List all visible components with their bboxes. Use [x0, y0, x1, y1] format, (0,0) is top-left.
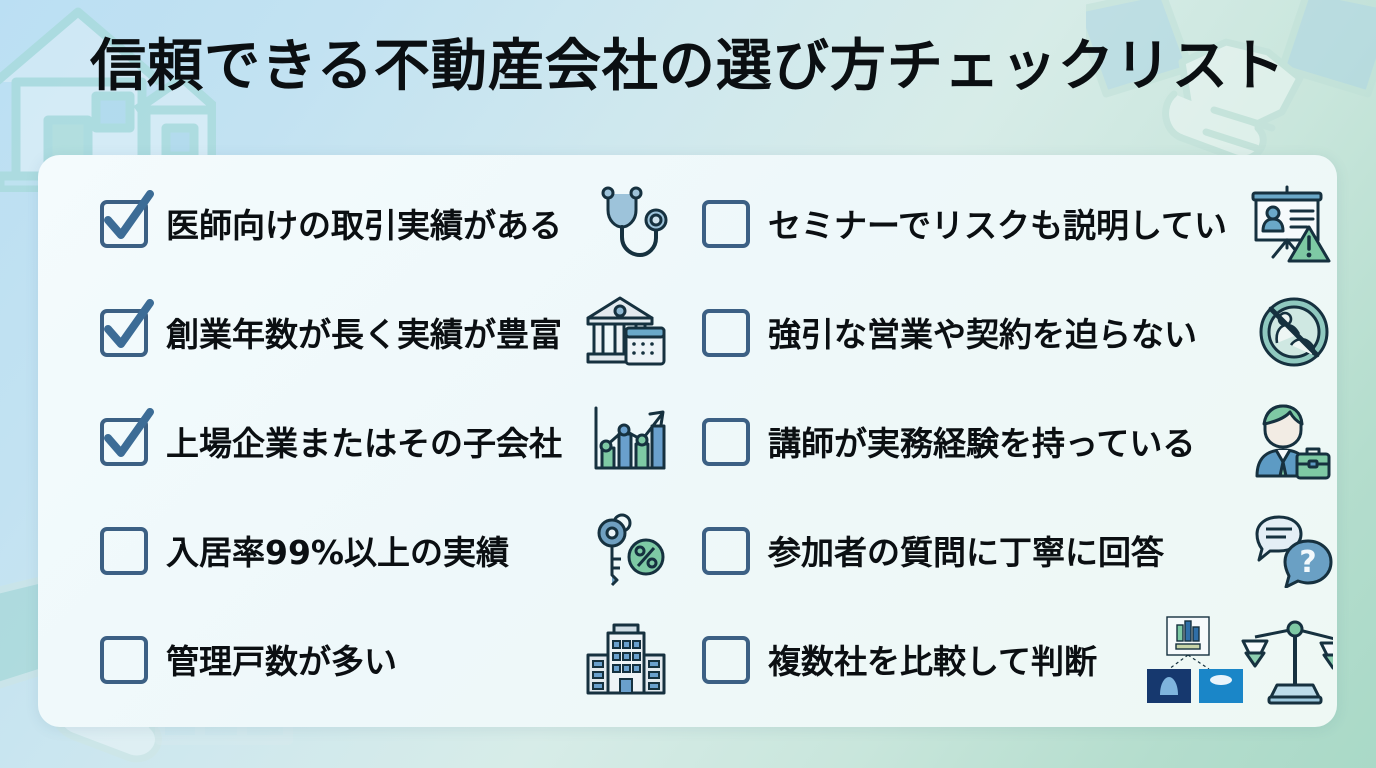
checkbox-unchecked[interactable]	[100, 636, 146, 682]
checklist-item-label: セミナーでリスクも説明してい	[768, 199, 1227, 247]
checkbox-checked[interactable]	[100, 418, 146, 464]
presentation-warning-icon	[1247, 183, 1333, 263]
checklist-item-label: 管理戸数が多い	[166, 635, 397, 683]
checkbox-unchecked[interactable]	[702, 309, 748, 355]
checklist-right-column: セミナーでリスクも説明してい	[678, 155, 1351, 727]
checkbox-unchecked[interactable]	[702, 418, 748, 464]
checklist-item-label: 強引な営業や契約を迫らない	[768, 308, 1197, 356]
checklist-item-label: 講師が実務経験を持っている	[768, 417, 1195, 465]
checkbox-checked[interactable]	[100, 200, 146, 246]
checklist-item-label: 医師向けの取引実績がある	[166, 199, 562, 247]
checklist-item[interactable]: 講師が実務経験を持っている	[702, 395, 1333, 487]
check-mark-icon	[98, 406, 156, 464]
compare-scales-icon	[1143, 613, 1333, 705]
checklist-item[interactable]: 上場企業またはその子会社	[100, 395, 668, 487]
checklist-left-column: 医師向けの取引実績がある	[38, 155, 678, 727]
checklist-item[interactable]: 創業年数が長く実績が豊富	[100, 286, 668, 378]
growth-chart-icon	[588, 404, 668, 478]
key-percent-icon	[590, 513, 668, 587]
stethoscope-icon	[590, 184, 668, 262]
checklist-grid: 医師向けの取引実績がある	[38, 155, 1337, 727]
checklist-item[interactable]: 医師向けの取引実績がある	[100, 177, 668, 269]
check-mark-icon	[98, 188, 156, 246]
checklist-item-label: 上場企業またはその子会社	[166, 417, 562, 465]
checklist-item[interactable]: セミナーでリスクも説明してい	[702, 177, 1333, 269]
apartment-building-icon	[584, 621, 668, 697]
checklist-item[interactable]: 複数社を比較して判断	[702, 613, 1333, 705]
checklist-item-label: 創業年数が長く実績が豊富	[166, 308, 562, 356]
page-title: 信頼できる不動産会社の選び方チェックリスト	[0, 36, 1376, 99]
checklist-item[interactable]: 強引な営業や契約を迫らない	[702, 286, 1333, 378]
check-mark-icon	[98, 297, 156, 355]
checklist-item-label: 入居率99%以上の実績	[166, 526, 509, 574]
no-pushy-sales-icon	[1255, 293, 1333, 371]
checklist-item-label: 複数社を比較して判断	[768, 635, 1097, 683]
checkbox-unchecked[interactable]	[702, 200, 748, 246]
businessman-briefcase-icon	[1249, 402, 1333, 480]
checklist-item[interactable]: 入居率99%以上の実績	[100, 504, 668, 596]
checkbox-checked[interactable]	[100, 309, 146, 355]
slide-canvas: 信頼できる不動産会社の選び方チェックリスト 医師向けの取引実績がある	[0, 0, 1376, 768]
checkbox-unchecked[interactable]	[702, 636, 748, 682]
checkbox-unchecked[interactable]	[100, 527, 146, 573]
checklist-item[interactable]: 管理戸数が多い	[100, 613, 668, 705]
checklist-item-label: 参加者の質問に丁寧に回答	[768, 526, 1164, 574]
question-chat-icon: ?	[1251, 512, 1333, 588]
bank-calendar-icon	[582, 294, 668, 370]
svg-text:?: ?	[1299, 545, 1316, 580]
checklist-item[interactable]: 参加者の質問に丁寧に回答 ?	[702, 504, 1333, 596]
checkbox-unchecked[interactable]	[702, 527, 748, 573]
